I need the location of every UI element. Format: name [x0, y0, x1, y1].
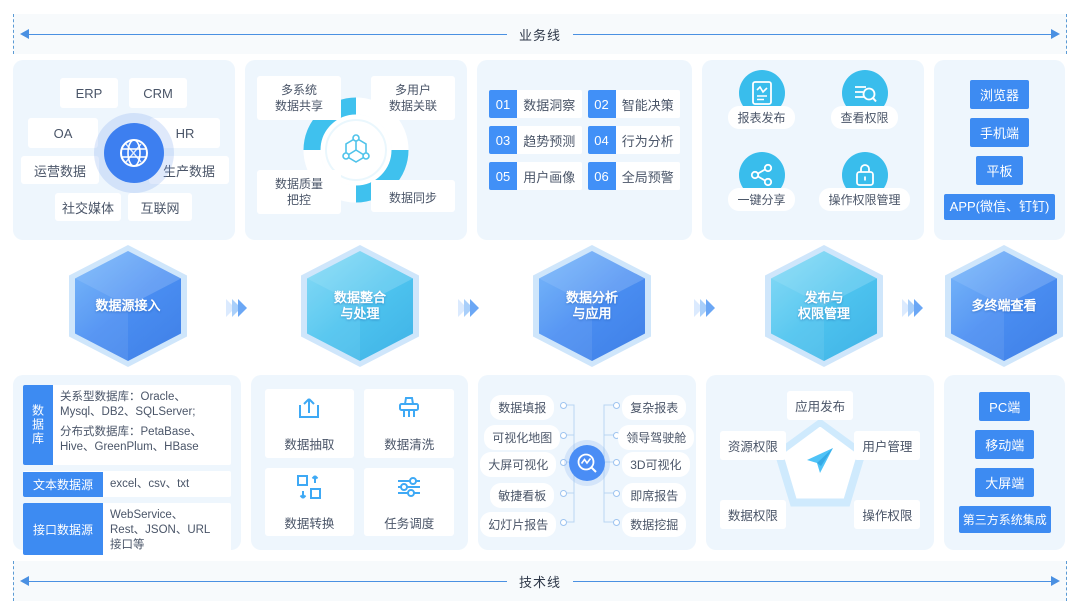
row-key: 接口数据源 [23, 503, 103, 555]
etl-card-schedule[interactable]: 任务调度 [364, 468, 454, 537]
panel-data-integration: 多系统 数据共享 多用户 数据关联 数据质量 把控 数据同步 [245, 60, 467, 240]
hexagon-label: 多终端查看 [945, 245, 1063, 367]
axis-label: 业务线 [507, 25, 573, 44]
app-item-data-mining[interactable]: 数据挖掘 [622, 512, 686, 537]
datasource-row-interface[interactable]: 接口数据源 WebService、 Rest、JSON、URL 接口等 [23, 503, 231, 555]
chevron-3 [914, 299, 923, 317]
paper-plane-icon [802, 442, 838, 483]
item-number: 04 [588, 126, 616, 154]
hexagon-label-line-1: 数据整合 [334, 290, 386, 306]
source-tag-operations-data[interactable]: 运营数据 [21, 156, 99, 184]
value-line-1: WebService、 [110, 508, 224, 523]
analysis-item-5[interactable]: 05 用户画像 [489, 162, 582, 190]
arrow-left-icon [20, 29, 29, 39]
globe-network-icon [104, 123, 164, 183]
terminal-button-browser[interactable]: 浏览器 [970, 80, 1029, 109]
analysis-item-3[interactable]: 03 趋势预测 [489, 126, 582, 154]
tag-line-1: 多系统 [261, 82, 337, 98]
app-item-adhoc-report[interactable]: 即席报告 [622, 483, 686, 508]
hexagon-step-3[interactable]: 数据分析 与应用 [533, 245, 651, 367]
integration-tag-data-quality[interactable]: 数据质量 把控 [257, 170, 341, 214]
terminal-button-app[interactable]: APP(微信、钉钉) [944, 194, 1056, 220]
hexagon-label-line-1: 数据分析 [566, 290, 618, 306]
process-hexagon-row: 数据源接入 数据整合 与处理 [13, 245, 1065, 370]
terminal-button-mobile[interactable]: 手机端 [970, 118, 1029, 147]
hexagon-label-line-2: 权限管理 [798, 306, 850, 322]
hexagon-label: 数据分析 与应用 [533, 245, 651, 367]
item-label: 趋势预测 [517, 126, 582, 154]
analysis-item-grid: 01 数据洞察 02 智能决策 03 趋势预测 04 行为分析 05 用户画 [489, 90, 680, 190]
arrow-left-icon [20, 576, 29, 586]
source-tag-social-media[interactable]: 社交媒体 [55, 193, 121, 221]
publish-item-share[interactable]: 一键分享 [710, 150, 813, 232]
datasource-row-database[interactable]: 数据库 关系型数据库：Oracle、 Mysql、DB2、SQLServer; … [23, 385, 231, 465]
analysis-item-6[interactable]: 06 全局预警 [588, 162, 681, 190]
permission-pentagon [774, 419, 866, 507]
hexagon-label: 数据源接入 [69, 245, 187, 367]
source-tag-internet[interactable]: 互联网 [128, 193, 192, 221]
chevron-3 [238, 299, 247, 317]
analysis-item-1[interactable]: 01 数据洞察 [489, 90, 582, 118]
client-button-bigscreen[interactable]: 大屏端 [975, 468, 1034, 497]
item-label: 智能决策 [616, 90, 681, 118]
hexagon-step-2[interactable]: 数据整合 与处理 [301, 245, 419, 367]
business-line-axis: 业务线 [13, 14, 1067, 54]
publish-item-label: 查看权限 [831, 106, 897, 129]
item-number: 03 [489, 126, 517, 154]
permission-label-resource[interactable]: 资源权限 [720, 431, 786, 460]
datasource-table: 数据库 关系型数据库：Oracle、 Mysql、DB2、SQLServer; … [23, 385, 231, 540]
source-tag-cluster: ERP CRM OA HR 运营数据 生产数据 社交媒体 互联网 [13, 60, 235, 240]
tag-line-2: 把控 [261, 192, 337, 208]
value-line-4: Hive、GreenPlum、HBase [60, 440, 224, 455]
row-value: 关系型数据库：Oracle、 Mysql、DB2、SQLServer; 分布式数… [53, 385, 231, 465]
chevron-3 [470, 299, 479, 317]
etl-card-extract[interactable]: 数据抽取 [265, 389, 355, 458]
hexagon-label: 数据整合 与处理 [301, 245, 419, 367]
process-chevron-2 [461, 299, 479, 317]
item-number: 01 [489, 90, 517, 118]
process-chevron-3 [697, 299, 715, 317]
source-tag-crm[interactable]: CRM [129, 78, 187, 108]
tag-line-1: 数据质量 [261, 176, 337, 192]
client-button-mobile[interactable]: 移动端 [975, 430, 1034, 459]
terminal-button-tablet[interactable]: 平板 [976, 156, 1022, 185]
client-button-column: PC端 移动端 大屏端 第三方系统集成 [944, 375, 1065, 550]
etl-card-label: 任务调度 [384, 513, 434, 532]
hexagon-step-5[interactable]: 多终端查看 [945, 245, 1063, 367]
app-item-leader-cockpit[interactable]: 领导驾驶舱 [618, 425, 694, 450]
process-chevron-1 [229, 299, 247, 317]
hexagon-label-line-1: 多终端查看 [971, 298, 1036, 313]
application-mindmap: 数据填报 可视化地图 大屏可视化 敏捷看板 幻灯片报告 复杂报表 领导驾驶舱 3… [478, 375, 696, 550]
transform-swap-icon [294, 472, 324, 507]
source-tag-erp[interactable]: ERP [60, 78, 118, 108]
publish-item-report[interactable]: 报表发布 [710, 68, 813, 150]
pentagon-body [783, 427, 857, 499]
hexagon-label: 发布与 权限管理 [765, 245, 883, 367]
panel-publish-permission: 报表发布 查看权限 [702, 60, 924, 240]
item-number: 02 [588, 90, 616, 118]
panel-applications: 数据填报 可视化地图 大屏可视化 敏捷看板 幻灯片报告 复杂报表 领导驾驶舱 3… [478, 375, 696, 550]
chevron-3 [706, 299, 715, 317]
source-tag-oa[interactable]: OA [28, 118, 98, 148]
tag-line-2: 数据共享 [261, 98, 337, 114]
client-button-third-party[interactable]: 第三方系统集成 [959, 506, 1051, 533]
app-item-bigscreen-visual[interactable]: 大屏可视化 [480, 452, 556, 477]
terminal-button-column: 浏览器 手机端 平板 APP(微信、钉钉) [934, 60, 1065, 240]
hexagon-step-4[interactable]: 发布与 权限管理 [765, 245, 883, 367]
integration-tag-data-sync[interactable]: 数据同步 [371, 180, 455, 212]
etl-card-label: 数据清洗 [384, 434, 434, 453]
analytics-search-icon [569, 445, 605, 481]
panel-clients: PC端 移动端 大屏端 第三方系统集成 [944, 375, 1065, 550]
brush-clean-icon [394, 393, 424, 428]
etl-card-clean[interactable]: 数据清洗 [364, 389, 454, 458]
publish-item-label: 报表发布 [728, 106, 794, 129]
value-line-3: 分布式数据库：PetaBase、 [60, 425, 224, 440]
publish-item-label: 操作权限管理 [819, 188, 909, 211]
sliders-settings-icon [394, 472, 424, 507]
publish-item-label: 一键分享 [728, 188, 794, 211]
tag-line-1: 多用户 [375, 82, 451, 98]
technology-line-axis: 技术线 [13, 561, 1067, 601]
item-number: 06 [588, 162, 616, 190]
item-label: 全局预警 [616, 162, 681, 190]
publish-icon-grid: 报表发布 查看权限 [710, 68, 916, 232]
permission-label-operation[interactable]: 操作权限 [854, 500, 920, 529]
bottom-panel-row: 数据库 关系型数据库：Oracle、 Mysql、DB2、SQLServer; … [13, 375, 1065, 550]
tag-line-1: 数据同步 [375, 190, 451, 206]
publish-item-view-permission[interactable]: 查看权限 [813, 68, 916, 150]
app-item-complex-report[interactable]: 复杂报表 [622, 395, 686, 420]
item-label: 数据洞察 [517, 90, 582, 118]
process-chevron-4 [905, 299, 923, 317]
row-key: 数据库 [23, 385, 53, 465]
item-number: 05 [489, 162, 517, 190]
app-item-slide-report[interactable]: 幻灯片报告 [480, 512, 556, 537]
tag-line-2: 数据关联 [375, 98, 451, 114]
integration-tag-multi-system-share[interactable]: 多系统 数据共享 [257, 76, 341, 120]
datasource-row-text[interactable]: 文本数据源 excel、csv、txt [23, 471, 231, 497]
panel-terminals: 浏览器 手机端 平板 APP(微信、钉钉) [934, 60, 1065, 240]
etl-card-grid: 数据抽取 数据清洗 [265, 389, 455, 536]
top-panel-row: ERP CRM OA HR 运营数据 生产数据 社交媒体 互联网 [13, 60, 1065, 240]
panel-datasource-detail: 数据库 关系型数据库：Oracle、 Mysql、DB2、SQLServer; … [13, 375, 241, 550]
client-button-pc[interactable]: PC端 [979, 392, 1030, 421]
hexagon-label-line-1: 发布与 [798, 290, 850, 306]
integration-tag-multi-user-relation[interactable]: 多用户 数据关联 [371, 76, 455, 120]
etl-card-label: 数据转换 [284, 513, 334, 532]
panel-data-analysis: 01 数据洞察 02 智能决策 03 趋势预测 04 行为分析 05 用户画 [477, 60, 692, 240]
hexagon-label-line-1: 数据源接入 [95, 298, 160, 313]
item-label: 用户画像 [517, 162, 582, 190]
arrow-right-icon [1051, 576, 1060, 586]
row-key: 文本数据源 [23, 472, 103, 497]
value-line-2: Mysql、DB2、SQLServer; [60, 405, 224, 420]
permission-label-data[interactable]: 数据权限 [720, 500, 786, 529]
value-line-2: Rest、JSON、URL [110, 523, 224, 538]
publish-item-operation-permission[interactable]: 操作权限管理 [813, 150, 916, 232]
row-value: excel、csv、txt [103, 472, 231, 497]
panel-etl: 数据抽取 数据清洗 [251, 375, 469, 550]
app-item-visual-map[interactable]: 可视化地图 [484, 425, 560, 450]
item-label: 行为分析 [616, 126, 681, 154]
permission-label-user-mgmt[interactable]: 用户管理 [854, 431, 920, 460]
etl-card-label: 数据抽取 [284, 434, 334, 453]
row-value: WebService、 Rest、JSON、URL 接口等 [103, 503, 231, 555]
app-item-data-fill[interactable]: 数据填报 [490, 395, 554, 420]
hexagon-step-1[interactable]: 数据源接入 [69, 245, 187, 367]
upload-box-icon [294, 393, 324, 428]
etl-card-transform[interactable]: 数据转换 [265, 468, 355, 537]
hexagon-label-line-2: 与应用 [566, 306, 618, 322]
analysis-item-4[interactable]: 04 行为分析 [588, 126, 681, 154]
permission-label-app-publish[interactable]: 应用发布 [787, 391, 853, 420]
app-item-agile-dashboard[interactable]: 敏捷看板 [490, 483, 554, 508]
axis-label: 技术线 [507, 572, 573, 591]
arrow-right-icon [1051, 29, 1060, 39]
value-line-1: 关系型数据库：Oracle、 [60, 390, 224, 405]
app-item-3d-visual[interactable]: 3D可视化 [622, 452, 689, 477]
panel-permission-detail: 应用发布 资源权限 用户管理 数据权限 操作权限 [706, 375, 934, 550]
analysis-item-2[interactable]: 02 智能决策 [588, 90, 681, 118]
value-line-3: 接口等 [110, 538, 224, 553]
infographic-stage: 业务线 ERP CRM OA HR 运营数据 生产数据 社交媒体 互联网 [0, 0, 1078, 615]
hexagon-label-line-2: 与处理 [334, 306, 386, 322]
panel-data-sources: ERP CRM OA HR 运营数据 生产数据 社交媒体 互联网 [13, 60, 235, 240]
